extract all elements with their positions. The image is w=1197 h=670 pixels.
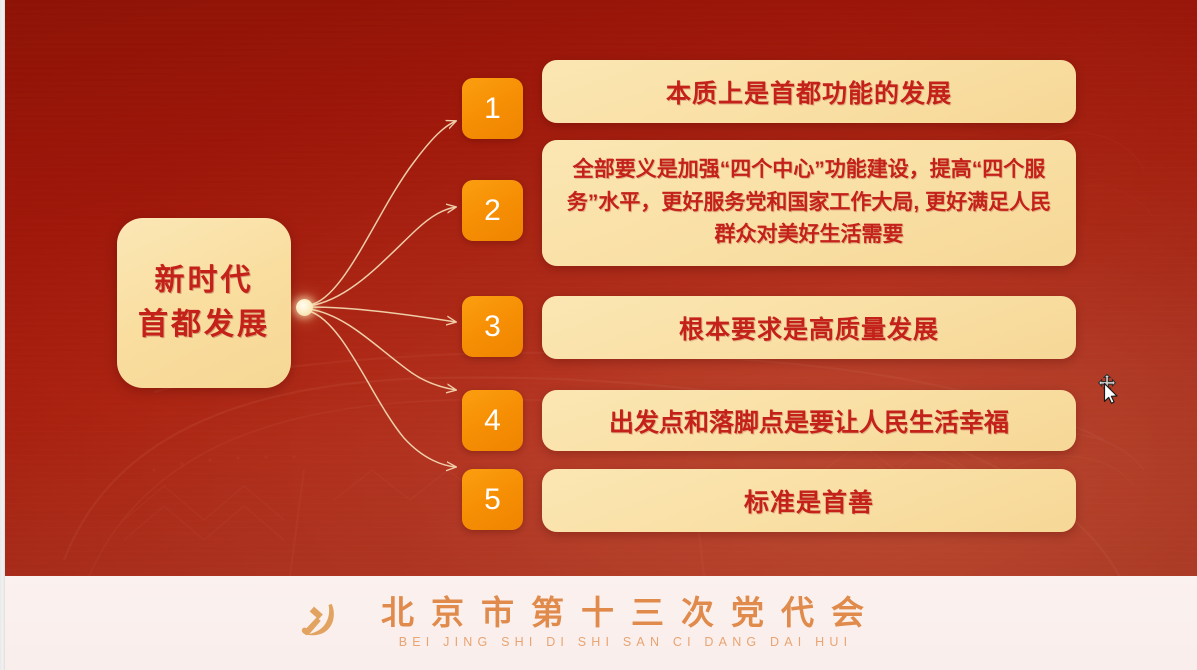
banner-title-pinyin: BEI JING SHI DI SHI SAN CI DANG DAI HUI — [393, 635, 853, 649]
item-number-badge: 2 — [462, 180, 523, 241]
list-item[interactable]: 4 — [462, 390, 523, 451]
slide-canvas: 新时代 首都发展 1 本质上是首都功能的发展 2 全部要义是加强“四个中心”功能… — [4, 0, 1197, 576]
item-text-card[interactable]: 全部要义是加强“四个中心”功能建设，提高“四个服务”水平，更好服务党和国家工作大… — [542, 140, 1076, 266]
connector-line-3 — [309, 307, 456, 322]
presentation-slide: 新时代 首都发展 1 本质上是首都功能的发展 2 全部要义是加强“四个中心”功能… — [0, 0, 1197, 670]
bottom-banner: 北京市第十三次党代会 BEI JING SHI DI SHI SAN CI DA… — [4, 576, 1197, 670]
connector-line-5 — [309, 311, 456, 467]
center-node-line-1: 新时代 — [155, 266, 254, 296]
item-text-card[interactable]: 标准是首善 — [542, 469, 1076, 532]
item-text-card[interactable]: 根本要求是高质量发展 — [542, 296, 1076, 359]
connector-line-1 — [309, 121, 456, 305]
connector-line-2 — [309, 207, 456, 306]
item-number-badge: 3 — [462, 296, 523, 357]
center-node-line-2: 首都发展 — [138, 310, 270, 340]
list-item[interactable]: 3 — [462, 296, 523, 357]
item-text-card[interactable]: 出发点和落脚点是要让人民生活幸福 — [542, 390, 1076, 451]
connector-hub-dot — [296, 299, 313, 316]
list-item[interactable]: 1 — [462, 78, 523, 139]
hammer-and-sickle-icon — [296, 599, 344, 647]
item-number-badge: 5 — [462, 469, 523, 530]
center-node-card[interactable]: 新时代 首都发展 — [117, 218, 291, 388]
list-item[interactable]: 2 — [462, 180, 523, 241]
banner-title-chinese: 北京市第十三次党代会 — [364, 597, 881, 632]
item-number-badge: 4 — [462, 390, 523, 451]
item-text-card[interactable]: 本质上是首都功能的发展 — [542, 60, 1076, 123]
connector-line-4 — [309, 309, 456, 390]
item-number-badge: 1 — [462, 78, 523, 139]
list-item[interactable]: 5 — [462, 469, 523, 530]
slide-left-edge-strip — [0, 0, 5, 670]
